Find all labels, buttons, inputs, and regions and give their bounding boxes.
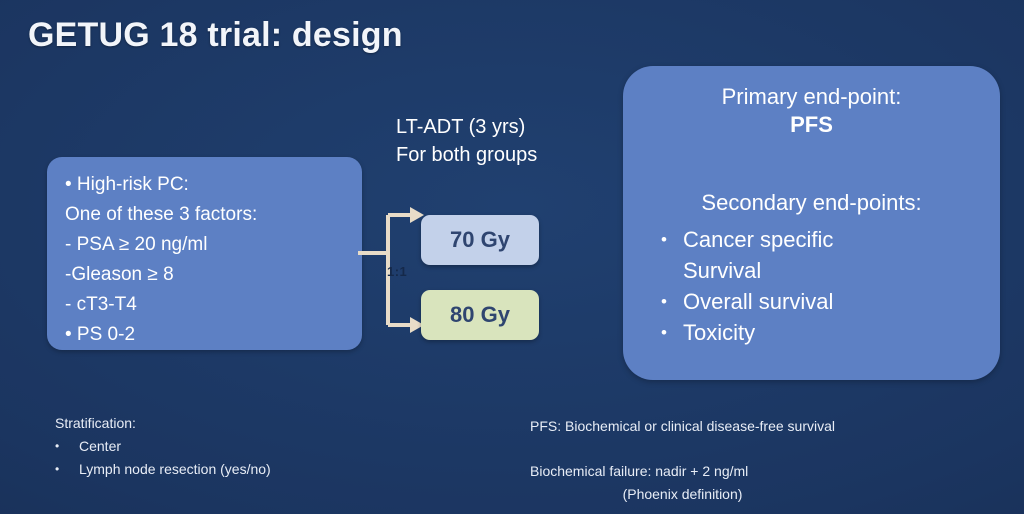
page-title: GETUG 18 trial: design [28, 16, 403, 55]
adt-scope-line: For both groups [396, 141, 537, 169]
bullet-icon: • [55, 435, 79, 458]
bullet-icon: • [645, 224, 683, 286]
phoenix-definition-text: (Phoenix definition) [530, 483, 835, 506]
bullet-icon: • [55, 458, 79, 481]
stratification-item-text: Center [79, 435, 121, 458]
secondary-endpoint-text: Overall survival [683, 286, 833, 317]
adt-duration-line: LT-ADT (3 yrs) [396, 113, 537, 141]
endpoints-panel: Primary end-point: PFS Secondary end-poi… [623, 66, 1000, 380]
spacer [530, 438, 835, 460]
biochemical-failure-text: Biochemical failure: nadir + 2 ng/ml [530, 460, 835, 483]
arm-70gy-label: 70 Gy [450, 227, 510, 253]
eligibility-line: • PS 0-2 [65, 320, 352, 350]
arm-80gy-label: 80 Gy [450, 302, 510, 328]
bullet-icon: • [645, 317, 683, 348]
arm-80gy-box: 80 Gy [421, 290, 539, 340]
secondary-endpoints-list: • Cancer specific Survival • Overall sur… [645, 224, 984, 348]
eligibility-line: • High-risk PC: [65, 170, 352, 200]
primary-endpoint-label: Primary end-point: [623, 84, 1000, 110]
stratification-note: Stratification: • Center • Lymph node re… [55, 412, 271, 481]
eligibility-line: One of these 3 factors: [65, 200, 352, 230]
list-item: • Cancer specific Survival [645, 224, 984, 286]
randomization-ratio-label: 1:1 [387, 264, 407, 279]
secondary-endpoints-label: Secondary end-points: [623, 190, 1000, 216]
secondary-endpoint-text: Toxicity [683, 317, 755, 348]
list-item: • Center [55, 435, 271, 458]
primary-endpoint-value: PFS [623, 112, 1000, 138]
list-item: • Overall survival [645, 286, 984, 317]
eligibility-box: • High-risk PC: One of these 3 factors: … [47, 157, 362, 350]
eligibility-criteria-list: • High-risk PC: One of these 3 factors: … [65, 170, 352, 350]
arm-70gy-box: 70 Gy [421, 215, 539, 265]
definitions-note: PFS: Biochemical or clinical disease-fre… [530, 415, 835, 506]
list-item: • Toxicity [645, 317, 984, 348]
slide-canvas: GETUG 18 trial: design • High-risk PC: O… [0, 0, 1024, 514]
stratification-title: Stratification: [55, 412, 271, 435]
eligibility-line: - PSA ≥ 20 ng/ml [65, 230, 352, 260]
secondary-endpoint-text: Cancer specific Survival [683, 224, 833, 286]
pfs-definition-text: PFS: Biochemical or clinical disease-fre… [530, 415, 835, 438]
bullet-icon: • [645, 286, 683, 317]
list-item: • Lymph node resection (yes/no) [55, 458, 271, 481]
eligibility-line: - cT3-T4 [65, 290, 352, 320]
stratification-item-text: Lymph node resection (yes/no) [79, 458, 271, 481]
adt-caption: LT-ADT (3 yrs) For both groups [396, 113, 537, 169]
eligibility-line: -Gleason ≥ 8 [65, 260, 352, 290]
